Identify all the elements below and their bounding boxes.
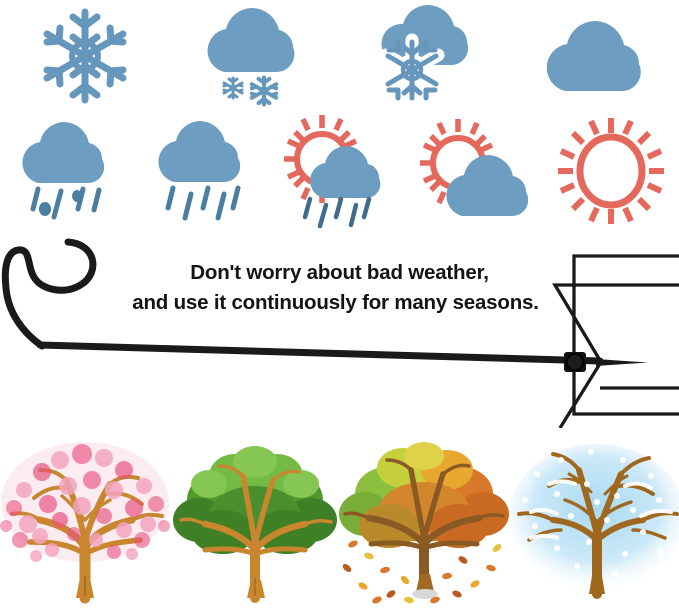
weather-icon-cloud-light-snow [170, 0, 340, 112]
weather-icon-drizzle [0, 112, 136, 230]
season-cell-summer [170, 424, 340, 608]
weather-icon-partly-cloudy [407, 112, 543, 230]
weather-seasons-product-banner: Don't worry about bad weather, and use i… [0, 0, 679, 608]
weather-icon-snowflake [0, 0, 170, 112]
season-cell-autumn [340, 424, 510, 608]
weather-icon-sun-cloud-rain [272, 112, 408, 230]
weather-icon-sun [543, 112, 679, 230]
weather-icon-rain [136, 112, 272, 230]
weather-icon-row-top [0, 0, 679, 112]
weather-icon-cloud [509, 0, 679, 112]
product-image-shepherds-hook [0, 228, 679, 428]
weather-icon-row-bottom [0, 112, 679, 230]
season-trees-row [0, 424, 679, 608]
season-cell-spring [0, 424, 170, 608]
season-cell-winter [509, 424, 679, 608]
weather-icon-cloud-heavy-snow [340, 0, 510, 112]
